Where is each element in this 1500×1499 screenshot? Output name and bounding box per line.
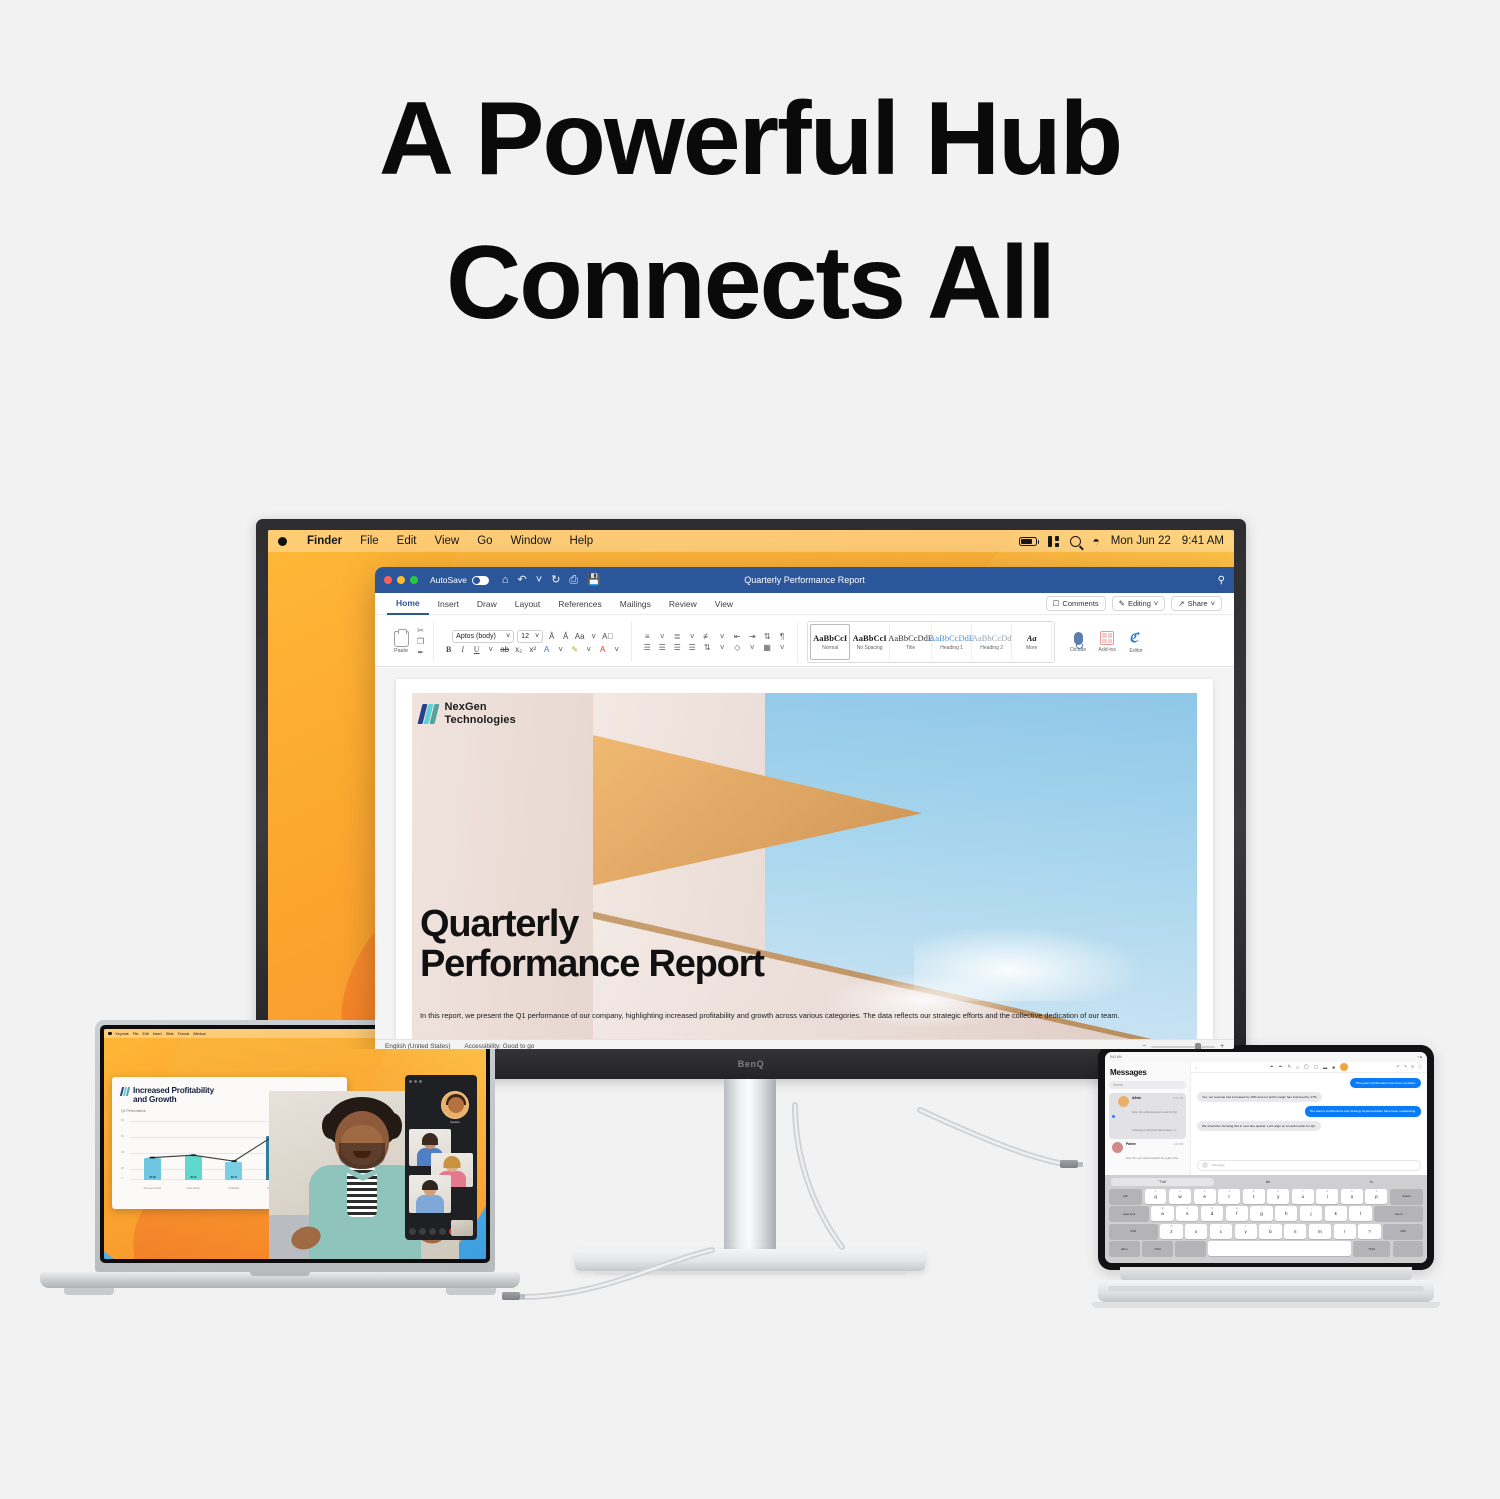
- zoom-slider[interactable]: [1151, 1046, 1215, 1048]
- strikethrough-icon[interactable]: ab: [499, 646, 510, 654]
- save-icon[interactable]: 💾: [587, 575, 601, 586]
- message-input[interactable]: iMessage: [1197, 1160, 1421, 1171]
- monitor-stand-base: [575, 1249, 925, 1271]
- document-paragraph: In this report, we present the Q1 perfor…: [420, 1010, 1181, 1021]
- style-preview: AaBbCcDd: [972, 633, 1012, 643]
- predictive-text-bar[interactable]: "The" Ive Is: [1109, 1178, 1423, 1186]
- tab-references[interactable]: References: [549, 594, 610, 614]
- key-caps-lock[interactable]: caps lock: [1109, 1206, 1149, 1221]
- logo-bars-icon: [418, 704, 439, 724]
- laptop-lid: Keynote File Edit Insert Slide Format Wi…: [95, 1020, 495, 1272]
- tab-view[interactable]: View: [706, 594, 742, 614]
- key-alt: 5: [1253, 1190, 1254, 1193]
- apple-icon[interactable]: [108, 1032, 112, 1036]
- tablet: 9:41 AM ◓ ■ Messages Search: [1092, 1045, 1440, 1310]
- search-input[interactable]: Search: [1109, 1081, 1186, 1089]
- maximize-icon[interactable]: [410, 576, 418, 584]
- lasso-icon[interactable]: ◯: [1304, 1064, 1309, 1070]
- key-shift-right[interactable]: shift: [1383, 1224, 1423, 1239]
- key-label: w: [1178, 1194, 1181, 1199]
- numbering-icon[interactable]: ≣: [671, 633, 683, 641]
- status-accessibility[interactable]: Accessibility: Good to go: [464, 1043, 534, 1049]
- search-placeholder: Search: [1113, 1083, 1123, 1087]
- key-x[interactable]: -x: [1185, 1224, 1207, 1239]
- menu-item-finder[interactable]: Finder: [298, 535, 351, 547]
- key-r[interactable]: 4r: [1218, 1189, 1240, 1204]
- cover-image: [412, 693, 1197, 1043]
- align-right-icon[interactable]: ☰: [671, 644, 683, 652]
- key-label: q: [1154, 1194, 1157, 1199]
- wifi-icon[interactable]: ◓: [1092, 535, 1099, 547]
- key-label: v: [1245, 1229, 1247, 1234]
- conversation-list[interactable]: Messages Search Alivin 9:41 AM: [1105, 1062, 1191, 1175]
- panel-window-controls[interactable]: [409, 1080, 473, 1083]
- key-label: u: [1302, 1194, 1305, 1199]
- menubar-time: 9:41 AM: [1182, 535, 1224, 547]
- menu-item-file[interactable]: File: [351, 535, 388, 547]
- key-alt: 8: [1327, 1190, 1328, 1193]
- key-alt: 6: [1278, 1190, 1279, 1193]
- menu-item-window[interactable]: Window: [502, 535, 561, 547]
- menu-item-go[interactable]: Go: [468, 535, 501, 547]
- laptop-menu-file[interactable]: File: [133, 1032, 139, 1036]
- style-name: Heading 2: [980, 645, 1003, 651]
- key-alt: .: [1369, 1225, 1370, 1228]
- info-icon[interactable]: ⓘ: [1418, 1064, 1422, 1070]
- chevron-down-icon[interactable]: ˅: [746, 644, 758, 652]
- monitor-screen: Finder File Edit View Go Window Help ◓ M…: [268, 530, 1234, 1049]
- chevron-down-icon[interactable]: ˅: [686, 633, 698, 641]
- chevron-down-icon[interactable]: ˅: [555, 646, 566, 654]
- share-button[interactable]: ↗ Share ˅: [1171, 596, 1222, 611]
- laptop-foot-left: [64, 1288, 114, 1295]
- editing-label: Editing: [1128, 599, 1151, 608]
- editor-label: Editor: [1129, 648, 1143, 654]
- superscript-icon[interactable]: x²: [527, 646, 538, 654]
- quick-access-toolbar[interactable]: ⌂ ↶ ˅ ↻ ⎙ 💾: [502, 575, 601, 586]
- tab-draw[interactable]: Draw: [468, 594, 506, 614]
- key-alt: ,: [1344, 1225, 1345, 1228]
- style-preview: AaBbCcDdE: [929, 633, 974, 643]
- style-more[interactable]: Aa More: [1012, 624, 1052, 660]
- monitor-stand-neck: [724, 1079, 776, 1254]
- avatar: [441, 1091, 469, 1119]
- key-f[interactable]: &f: [1226, 1206, 1248, 1221]
- brand-line-2: Technologies: [445, 714, 516, 726]
- key-hide-keyboard[interactable]: [1393, 1241, 1424, 1256]
- key-alt: &: [1236, 1207, 1238, 1210]
- style-heading-1[interactable]: AaBbCcDdE Heading 1: [932, 624, 972, 660]
- messages-app: Messages Search Alivin 9:41 AM: [1105, 1062, 1427, 1175]
- composer-placeholder: iMessage: [1212, 1163, 1225, 1167]
- key-numbers-left[interactable]: ?123: [1142, 1241, 1173, 1256]
- print-icon[interactable]: ⎙: [569, 575, 578, 586]
- paragraph-group: ≡ ˅ ≣ ˅ ≢ ˅ ⇤ ⇥ ⇅ ¶: [636, 618, 793, 666]
- key-alt: #: [1187, 1207, 1188, 1210]
- key-h[interactable]: (h: [1275, 1206, 1297, 1221]
- show-marks-icon[interactable]: ¶: [776, 633, 788, 641]
- style-preview: Aa: [1027, 633, 1037, 643]
- text-effects-icon[interactable]: A: [541, 646, 552, 654]
- key-label: c: [1220, 1229, 1222, 1234]
- chevron-down-icon[interactable]: ˅: [716, 633, 728, 641]
- key-c[interactable]: +c: [1210, 1224, 1232, 1239]
- key-d[interactable]: $d: [1201, 1206, 1223, 1221]
- key-o[interactable]: 9o: [1341, 1189, 1363, 1204]
- mic-icon[interactable]: [409, 1228, 416, 1235]
- sort-icon[interactable]: ⇅: [761, 633, 773, 641]
- ruler-icon[interactable]: ▬: [1323, 1065, 1327, 1070]
- format-painter-icon[interactable]: ✒: [417, 649, 424, 657]
- document-page: NexGen Technologies Quarterly Performanc…: [396, 679, 1213, 1049]
- key-label: s: [1186, 1211, 1188, 1216]
- key-t[interactable]: 5t: [1243, 1189, 1265, 1204]
- bold-icon[interactable]: B: [443, 646, 454, 654]
- tools-group: Dictate Add-ins ℭ Editor: [1060, 618, 1154, 666]
- key-label: k: [1335, 1211, 1337, 1216]
- key-numbers-right[interactable]: ?123: [1353, 1241, 1390, 1256]
- editor-button[interactable]: ℭ Editor: [1123, 631, 1149, 654]
- doc-title-line-2: Performance Report: [420, 945, 1195, 985]
- key-w[interactable]: 2w: [1169, 1189, 1191, 1204]
- key-i[interactable]: 8i: [1316, 1189, 1338, 1204]
- eraser-icon[interactable]: □: [1296, 1065, 1299, 1070]
- style-normal[interactable]: AaBbCcI Normal: [810, 624, 850, 660]
- font-name-select[interactable]: Aptos (body) ˅: [452, 630, 514, 643]
- key-shift-left[interactable]: shift: [1109, 1224, 1158, 1239]
- styles-gallery[interactable]: AaBbCcI Normal AaBbCcI No Spacing AaBbCc…: [807, 621, 1055, 663]
- borders-icon[interactable]: ▦: [761, 644, 773, 652]
- pen-icon[interactable]: ✒: [1270, 1064, 1274, 1070]
- line-spacing-icon[interactable]: ⇅: [701, 644, 713, 652]
- word-window: AutoSave ⌂ ↶ ˅ ↻ ⎙ 💾 Quarterly Performan…: [375, 567, 1234, 1049]
- laptop-notch: [250, 1272, 310, 1276]
- prediction-3[interactable]: Is: [1320, 1180, 1423, 1184]
- key-alt: +: [1220, 1225, 1221, 1228]
- key-l[interactable]: "l: [1349, 1206, 1371, 1221]
- decrease-indent-icon[interactable]: ⇤: [731, 633, 743, 641]
- undo-icon[interactable]: ↶: [1396, 1064, 1399, 1070]
- message-bubble: The team's contributions and strategy im…: [1305, 1106, 1421, 1116]
- conversation-preview: Nice. Q1 achievements to look for Q2, or…: [1132, 1111, 1178, 1132]
- prediction-2[interactable]: Ive: [1216, 1180, 1319, 1184]
- tablet-screen: 9:41 AM ◓ ■ Messages Search: [1105, 1052, 1427, 1263]
- key-label: o: [1351, 1194, 1354, 1199]
- paste-icon: [394, 631, 409, 647]
- key-emoji[interactable]: [1175, 1241, 1206, 1256]
- tab-home[interactable]: Home: [387, 593, 429, 615]
- page-title: A Powerful Hub Connects All: [0, 68, 1500, 355]
- conversation-name: Pamie: [1126, 1142, 1136, 1146]
- shading-icon[interactable]: ◇: [731, 644, 743, 652]
- pencil-icon[interactable]: ✎: [1287, 1064, 1291, 1070]
- tablet-body: 9:41 AM ◓ ■ Messages Search: [1098, 1045, 1434, 1270]
- battery-icon[interactable]: [1019, 537, 1037, 546]
- key-alt: ): [1311, 1207, 1312, 1210]
- key-b[interactable]: /b: [1259, 1224, 1281, 1239]
- keyboard-row-3: shift %z -x +c =v /b ;n :m ,! .? shift: [1109, 1224, 1423, 1239]
- marker-icon[interactable]: ✒: [1279, 1064, 1283, 1070]
- align-left-icon[interactable]: ☰: [641, 644, 653, 652]
- chevron-down-icon[interactable]: ˅: [776, 644, 788, 652]
- key-alt: *: [1261, 1207, 1262, 1210]
- conversation-time: 1:20 PM: [1173, 1143, 1183, 1146]
- onscreen-keyboard[interactable]: "The" Ive Is tab 1q 2w 3e 4r 5t 6y 7u 8i: [1105, 1175, 1427, 1263]
- key-question[interactable]: .?: [1358, 1224, 1380, 1239]
- addins-button[interactable]: Add-ins: [1094, 631, 1120, 653]
- tablet-status-icons: ◓ ■: [1417, 1055, 1422, 1059]
- style-heading-2[interactable]: AaBbCcDd Heading 2: [972, 624, 1012, 660]
- key-g[interactable]: *g: [1250, 1206, 1272, 1221]
- conversation-name: Alivin: [1132, 1096, 1141, 1100]
- key-alt: 1: [1155, 1190, 1156, 1193]
- style-title[interactable]: AaBbCcDdE Title: [890, 623, 932, 661]
- shape-icon[interactable]: ▢: [1314, 1064, 1318, 1070]
- key-j[interactable]: )j: [1300, 1206, 1322, 1221]
- chart-category: Profitability: [224, 1188, 243, 1191]
- cut-icon[interactable]: ✂: [417, 627, 424, 635]
- multilevel-list-icon[interactable]: ≢: [701, 633, 713, 641]
- tablet-keyboard-base: [1098, 1280, 1434, 1302]
- key-label: f: [1236, 1211, 1237, 1216]
- laptop-foot-right: [446, 1288, 496, 1295]
- align-center-icon[interactable]: ☰: [656, 644, 668, 652]
- key-y[interactable]: 6y: [1267, 1189, 1289, 1204]
- prediction-1[interactable]: "The": [1111, 1178, 1214, 1186]
- laptop-menu-edit[interactable]: Edit: [142, 1032, 148, 1036]
- speaker-name: Speaker: [442, 1121, 468, 1124]
- home-icon[interactable]: ⌂: [502, 575, 509, 586]
- tab-review[interactable]: Review: [660, 594, 706, 614]
- key-n[interactable]: ;n: [1284, 1224, 1306, 1239]
- key-m[interactable]: :m: [1309, 1224, 1331, 1239]
- slide-title-line-1: Increased Profitability: [133, 1086, 214, 1095]
- chevron-down-icon: ˅: [1154, 599, 1158, 608]
- key-tab[interactable]: tab: [1109, 1189, 1142, 1204]
- thread-toolbar[interactable]: ‹ ✒ ✒ ✎ □ ◯ ▢ ▬ ■ ↶ ↷: [1191, 1062, 1427, 1073]
- pencil-icon: ✎: [1119, 599, 1125, 608]
- control-center-icon[interactable]: [1048, 536, 1059, 547]
- key-e[interactable]: 3e: [1194, 1189, 1216, 1204]
- key-label: b: [1269, 1229, 1272, 1234]
- key-alt: =: [1245, 1225, 1246, 1228]
- justify-icon[interactable]: ☰: [686, 644, 698, 652]
- bullets-icon[interactable]: ≡: [641, 633, 653, 641]
- comments-label: Comments: [1062, 599, 1098, 608]
- key-label: m: [1318, 1229, 1322, 1234]
- style-preview: AaBbCcI: [853, 633, 887, 643]
- menu-item-edit[interactable]: Edit: [388, 535, 426, 547]
- tab-insert[interactable]: Insert: [429, 594, 468, 614]
- key-alt: 4: [1228, 1190, 1229, 1193]
- share-icon: ↗: [1178, 599, 1184, 608]
- camera-icon[interactable]: [419, 1228, 426, 1235]
- key-label: y: [1277, 1194, 1279, 1199]
- style-name: No Spacing: [857, 645, 883, 651]
- word-statusbar: English (United States) Accessibility: G…: [375, 1039, 1234, 1049]
- laptop-base: [40, 1272, 520, 1288]
- window-controls[interactable]: [384, 576, 418, 584]
- font-name-value: Aptos (body): [456, 633, 496, 640]
- shrink-font-icon[interactable]: Ǎ: [560, 633, 571, 641]
- document-canvas[interactable]: NexGen Technologies Quarterly Performanc…: [375, 668, 1234, 1049]
- doc-title-line-1: Quarterly: [420, 905, 1195, 945]
- style-no-spacing[interactable]: AaBbCcI No Spacing: [850, 624, 890, 660]
- key-s[interactable]: #s: [1176, 1206, 1198, 1221]
- chevron-down-icon[interactable]: ˅: [611, 646, 622, 654]
- key-alt: (: [1286, 1207, 1287, 1210]
- change-case-icon[interactable]: Aa: [574, 633, 585, 641]
- keyboard-row-2: caps lock @a #s $d &f *g (h )j 'k "l ret…: [1109, 1206, 1423, 1221]
- share-icon[interactable]: [429, 1228, 436, 1235]
- key-delete[interactable]: delete: [1390, 1189, 1423, 1204]
- laptop: Keynote File Edit Insert Slide Format Wi…: [40, 1020, 520, 1310]
- laptop-menu-slide[interactable]: Slide: [166, 1032, 174, 1036]
- key-z[interactable]: %z: [1160, 1224, 1182, 1239]
- status-language[interactable]: English (United States): [385, 1043, 450, 1049]
- style-preview: AaBbCcI: [813, 633, 847, 643]
- minimize-icon[interactable]: [397, 576, 405, 584]
- laptop-screen: Keynote File Edit Insert Slide Format Wi…: [104, 1029, 486, 1259]
- chevron-down-icon: ˅: [506, 633, 510, 640]
- redo-icon[interactable]: ↷: [1404, 1064, 1407, 1070]
- laptop-menu-keynote[interactable]: Keynote: [116, 1032, 129, 1036]
- key-label: x: [1195, 1229, 1197, 1234]
- logo-bars-icon: [120, 1087, 130, 1096]
- highlight-icon[interactable]: ✎: [569, 646, 580, 654]
- style-preview: AaBbCcDdE: [888, 633, 933, 643]
- key-p[interactable]: 0p: [1365, 1189, 1387, 1204]
- key-alt: -: [1196, 1225, 1197, 1228]
- macos-menubar[interactable]: Finder File Edit View Go Window Help ◓ M…: [268, 530, 1234, 552]
- comments-button[interactable]: ☐ Comments: [1046, 596, 1106, 611]
- message-bubbles: This year's performance has been excelle…: [1191, 1073, 1427, 1160]
- key-label: j: [1311, 1211, 1312, 1216]
- more-icon[interactable]: [439, 1228, 446, 1235]
- style-name: More: [1026, 645, 1037, 651]
- key-label: g: [1260, 1211, 1263, 1216]
- chevron-down-icon[interactable]: ˅: [716, 644, 728, 652]
- microphone-icon: [1074, 632, 1083, 645]
- chevron-down-icon[interactable]: ˅: [656, 633, 668, 641]
- font-color-icon[interactable]: A: [597, 646, 608, 654]
- key-exclamation[interactable]: ,!: [1334, 1224, 1356, 1239]
- avatar[interactable]: [1340, 1063, 1348, 1071]
- paste-button[interactable]: Paste: [388, 631, 414, 654]
- autosave-toggle[interactable]: AutoSave: [430, 575, 489, 585]
- headline-line-1: A Powerful Hub: [379, 81, 1121, 197]
- dictate-button[interactable]: Dictate: [1065, 632, 1091, 653]
- font-size-select[interactable]: 12 ˅: [517, 630, 543, 643]
- underline-icon[interactable]: U: [471, 646, 482, 654]
- editor-icon: ℭ: [1129, 631, 1143, 646]
- menu-item-view[interactable]: View: [426, 535, 469, 547]
- video-call-panel[interactable]: Speaker: [405, 1075, 477, 1240]
- chevron-down-icon[interactable]: ˅: [485, 646, 496, 654]
- redo-icon[interactable]: ↻: [551, 575, 560, 586]
- tablet-time: 9:41 AM: [1110, 1055, 1122, 1059]
- key-k[interactable]: 'k: [1325, 1206, 1347, 1221]
- key-alt: 3: [1204, 1190, 1205, 1193]
- chevron-down-icon[interactable]: ˅: [588, 633, 599, 641]
- unread-dot: [1112, 1115, 1115, 1118]
- key-label: a: [1161, 1211, 1164, 1216]
- increase-indent-icon[interactable]: ⇥: [746, 633, 758, 641]
- word-search-icon[interactable]: ⚲: [1218, 575, 1225, 586]
- laptop-menu-format[interactable]: Format: [178, 1032, 189, 1036]
- slide-title-line-2: and Growth: [133, 1095, 176, 1104]
- tab-layout[interactable]: Layout: [506, 594, 550, 614]
- menubar-date: Mon Jun 22: [1111, 535, 1171, 547]
- editing-button[interactable]: ✎ Editing ˅: [1112, 596, 1166, 611]
- zoom-out-icon[interactable]: −: [1143, 1043, 1147, 1049]
- company-logo: NexGen Technologies: [420, 701, 516, 726]
- undo-icon[interactable]: ↶: [518, 575, 527, 586]
- color-icon[interactable]: ■: [1332, 1065, 1335, 1070]
- comment-icon: ☐: [1053, 599, 1060, 608]
- italic-icon[interactable]: I: [457, 646, 468, 654]
- ribbon-tabs[interactable]: Home Insert Draw Layout References Maili…: [375, 593, 1234, 615]
- key-alt: /: [1270, 1225, 1271, 1228]
- avatar: [1118, 1096, 1129, 1107]
- tablet-foot: [1092, 1302, 1440, 1308]
- self-view-tile[interactable]: [451, 1220, 473, 1236]
- clipboard-tools[interactable]: ✂ ❐ ✒: [417, 627, 424, 657]
- key-q[interactable]: 1q: [1145, 1189, 1167, 1204]
- menu-item-help[interactable]: Help: [560, 535, 602, 547]
- autosave-switch[interactable]: [472, 576, 489, 585]
- avatar: [1112, 1142, 1123, 1153]
- search-icon[interactable]: [1070, 536, 1081, 547]
- headline-line-2: Connects All: [0, 212, 1500, 356]
- chevron-down-icon[interactable]: ˅: [536, 575, 542, 586]
- styles-group: AaBbCcI Normal AaBbCcI No Spacing AaBbCc…: [802, 618, 1060, 666]
- laptop-menu-window[interactable]: Window: [193, 1032, 206, 1036]
- laptop-menu-insert[interactable]: Insert: [153, 1032, 162, 1036]
- key-label: r: [1228, 1194, 1230, 1199]
- key-a[interactable]: @a: [1151, 1206, 1173, 1221]
- subscript-icon[interactable]: x₂: [513, 646, 524, 654]
- key-return[interactable]: return: [1374, 1206, 1423, 1221]
- page-root: A Powerful Hub Connects All Finder File …: [0, 0, 1500, 1499]
- style-name: Normal: [822, 645, 838, 651]
- participant-tile[interactable]: [409, 1175, 451, 1213]
- key-label: n: [1294, 1229, 1297, 1234]
- list-item[interactable]: Alivin 9:41 AM Nice. Q1 achievements to …: [1109, 1093, 1186, 1139]
- key-label-left[interactable]: label: [1109, 1241, 1140, 1256]
- clear-formatting-icon[interactable]: A⃠: [602, 633, 613, 641]
- back-icon[interactable]: ‹: [1196, 1065, 1197, 1070]
- zoom-in-icon[interactable]: +: [1220, 1043, 1224, 1049]
- close-icon[interactable]: [384, 576, 392, 584]
- key-v[interactable]: =v: [1235, 1224, 1257, 1239]
- search-icon[interactable]: ⚲: [1411, 1064, 1414, 1070]
- key-label: p: [1375, 1194, 1378, 1199]
- copy-icon[interactable]: ❐: [417, 638, 424, 646]
- chevron-down-icon[interactable]: ˅: [583, 646, 594, 654]
- key-space[interactable]: [1208, 1241, 1350, 1256]
- key-u[interactable]: 7u: [1292, 1189, 1314, 1204]
- attach-icon[interactable]: [1202, 1162, 1208, 1168]
- key-alt: @: [1161, 1207, 1163, 1210]
- grow-font-icon[interactable]: Â: [546, 633, 557, 641]
- key-alt: 7: [1302, 1190, 1303, 1193]
- key-alt: :: [1320, 1225, 1321, 1228]
- key-alt: %: [1170, 1225, 1172, 1228]
- tab-mailings[interactable]: Mailings: [611, 594, 660, 614]
- apple-icon[interactable]: [278, 537, 287, 546]
- font-size-value: 12: [521, 633, 529, 640]
